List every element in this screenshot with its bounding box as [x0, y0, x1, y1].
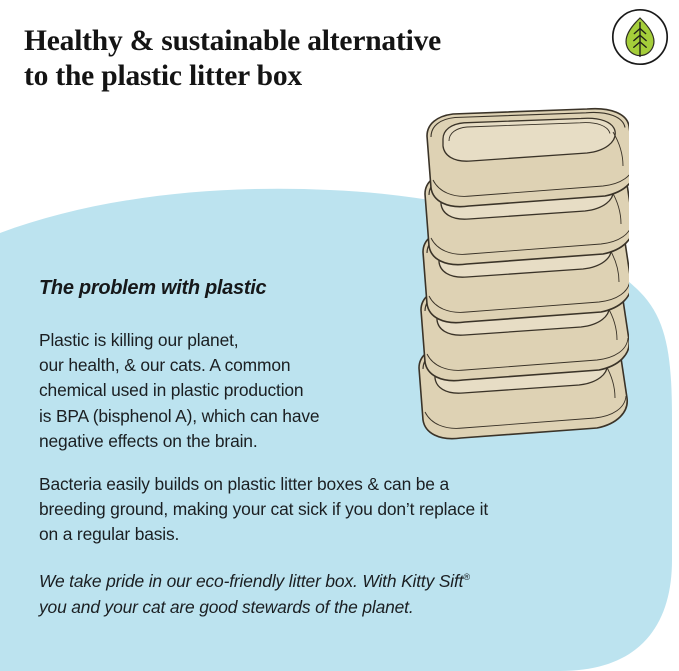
- paragraph-bacteria: Bacteria easily builds on plastic litter…: [39, 472, 559, 548]
- header: Healthy & sustainable alternative to the…: [0, 0, 679, 92]
- litter-tray-1: [427, 109, 629, 207]
- brand-statement-line-1: We take pride in our eco-friendly litter…: [39, 571, 463, 591]
- paragraph-brand-statement: We take pride in our eco-friendly litter…: [39, 568, 559, 620]
- registered-trademark-symbol: ®: [463, 572, 469, 582]
- section-subheading: The problem with plastic: [39, 277, 266, 300]
- page-title-line-2: to the plastic litter box: [24, 59, 564, 94]
- stacked-litter-boxes-illustration: [393, 104, 629, 440]
- page-title-line-1: Healthy & sustainable alternative: [24, 25, 441, 57]
- paragraph-plastic-problem: Plastic is killing our planet, our healt…: [39, 328, 379, 454]
- page-title: Healthy & sustainable alternative to the…: [24, 24, 564, 94]
- infographic-page: Healthy & sustainable alternative to the…: [0, 0, 679, 671]
- eco-leaf-badge: [611, 8, 669, 66]
- brand-statement-line-2: you and your cat are good stewards of th…: [39, 597, 414, 617]
